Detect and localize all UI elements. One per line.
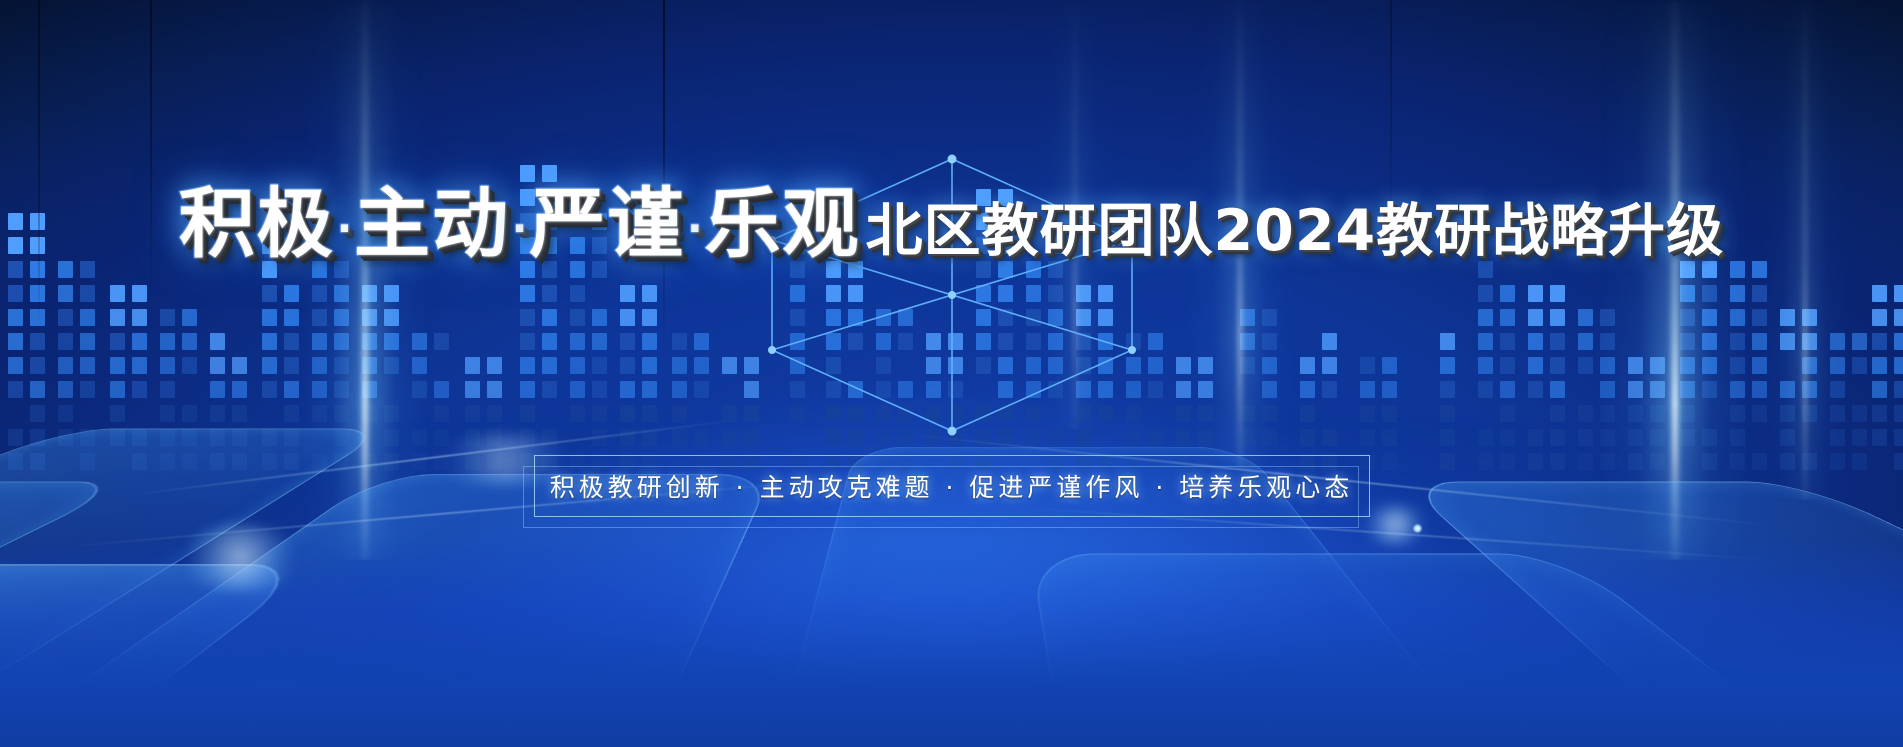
tagline-banner: 积极教研创新 · 主动攻克难题 · 促进严谨作风 · 培养乐观心态 (534, 455, 1370, 517)
promo-banner: 积极·主动·严谨·乐观 北区教研团队2024教研战略升级 积极教研创新 · 主动… (0, 0, 1903, 747)
page-title: 积极·主动·严谨·乐观 (179, 186, 861, 262)
title-word: 严谨 (529, 179, 685, 268)
title-separator: · (510, 206, 529, 252)
tagline-text: 积极教研创新 · 主动攻克难题 · 促进严谨作风 · 培养乐观心态 (534, 455, 1370, 517)
title-block: 积极·主动·严谨·乐观 北区教研团队2024教研战略升级 (0, 186, 1903, 262)
glow-dot (1413, 524, 1422, 533)
title-word: 乐观 (704, 179, 860, 268)
title-word: 主动 (354, 179, 510, 268)
title-separator: · (685, 206, 704, 252)
title-separator: · (335, 206, 354, 252)
title-word: 积极 (179, 179, 335, 268)
page-subtitle: 北区教研团队2024教研战略升级 (866, 203, 1725, 260)
